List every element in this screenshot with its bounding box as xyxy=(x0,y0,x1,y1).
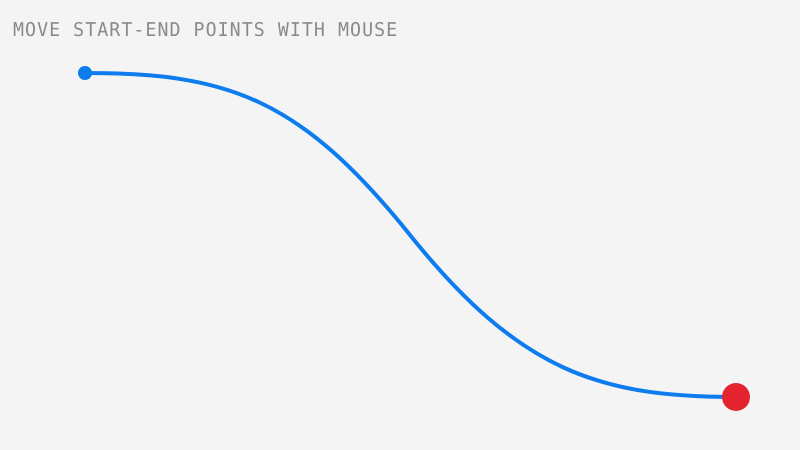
bezier-curve[interactable] xyxy=(85,73,736,397)
end-point-drag-target[interactable] xyxy=(714,375,758,419)
start-point-drag-target[interactable] xyxy=(69,57,101,89)
curve-layer xyxy=(0,0,800,450)
demo-canvas[interactable]: MOVE START-END POINTS WITH MOUSE xyxy=(0,0,800,450)
